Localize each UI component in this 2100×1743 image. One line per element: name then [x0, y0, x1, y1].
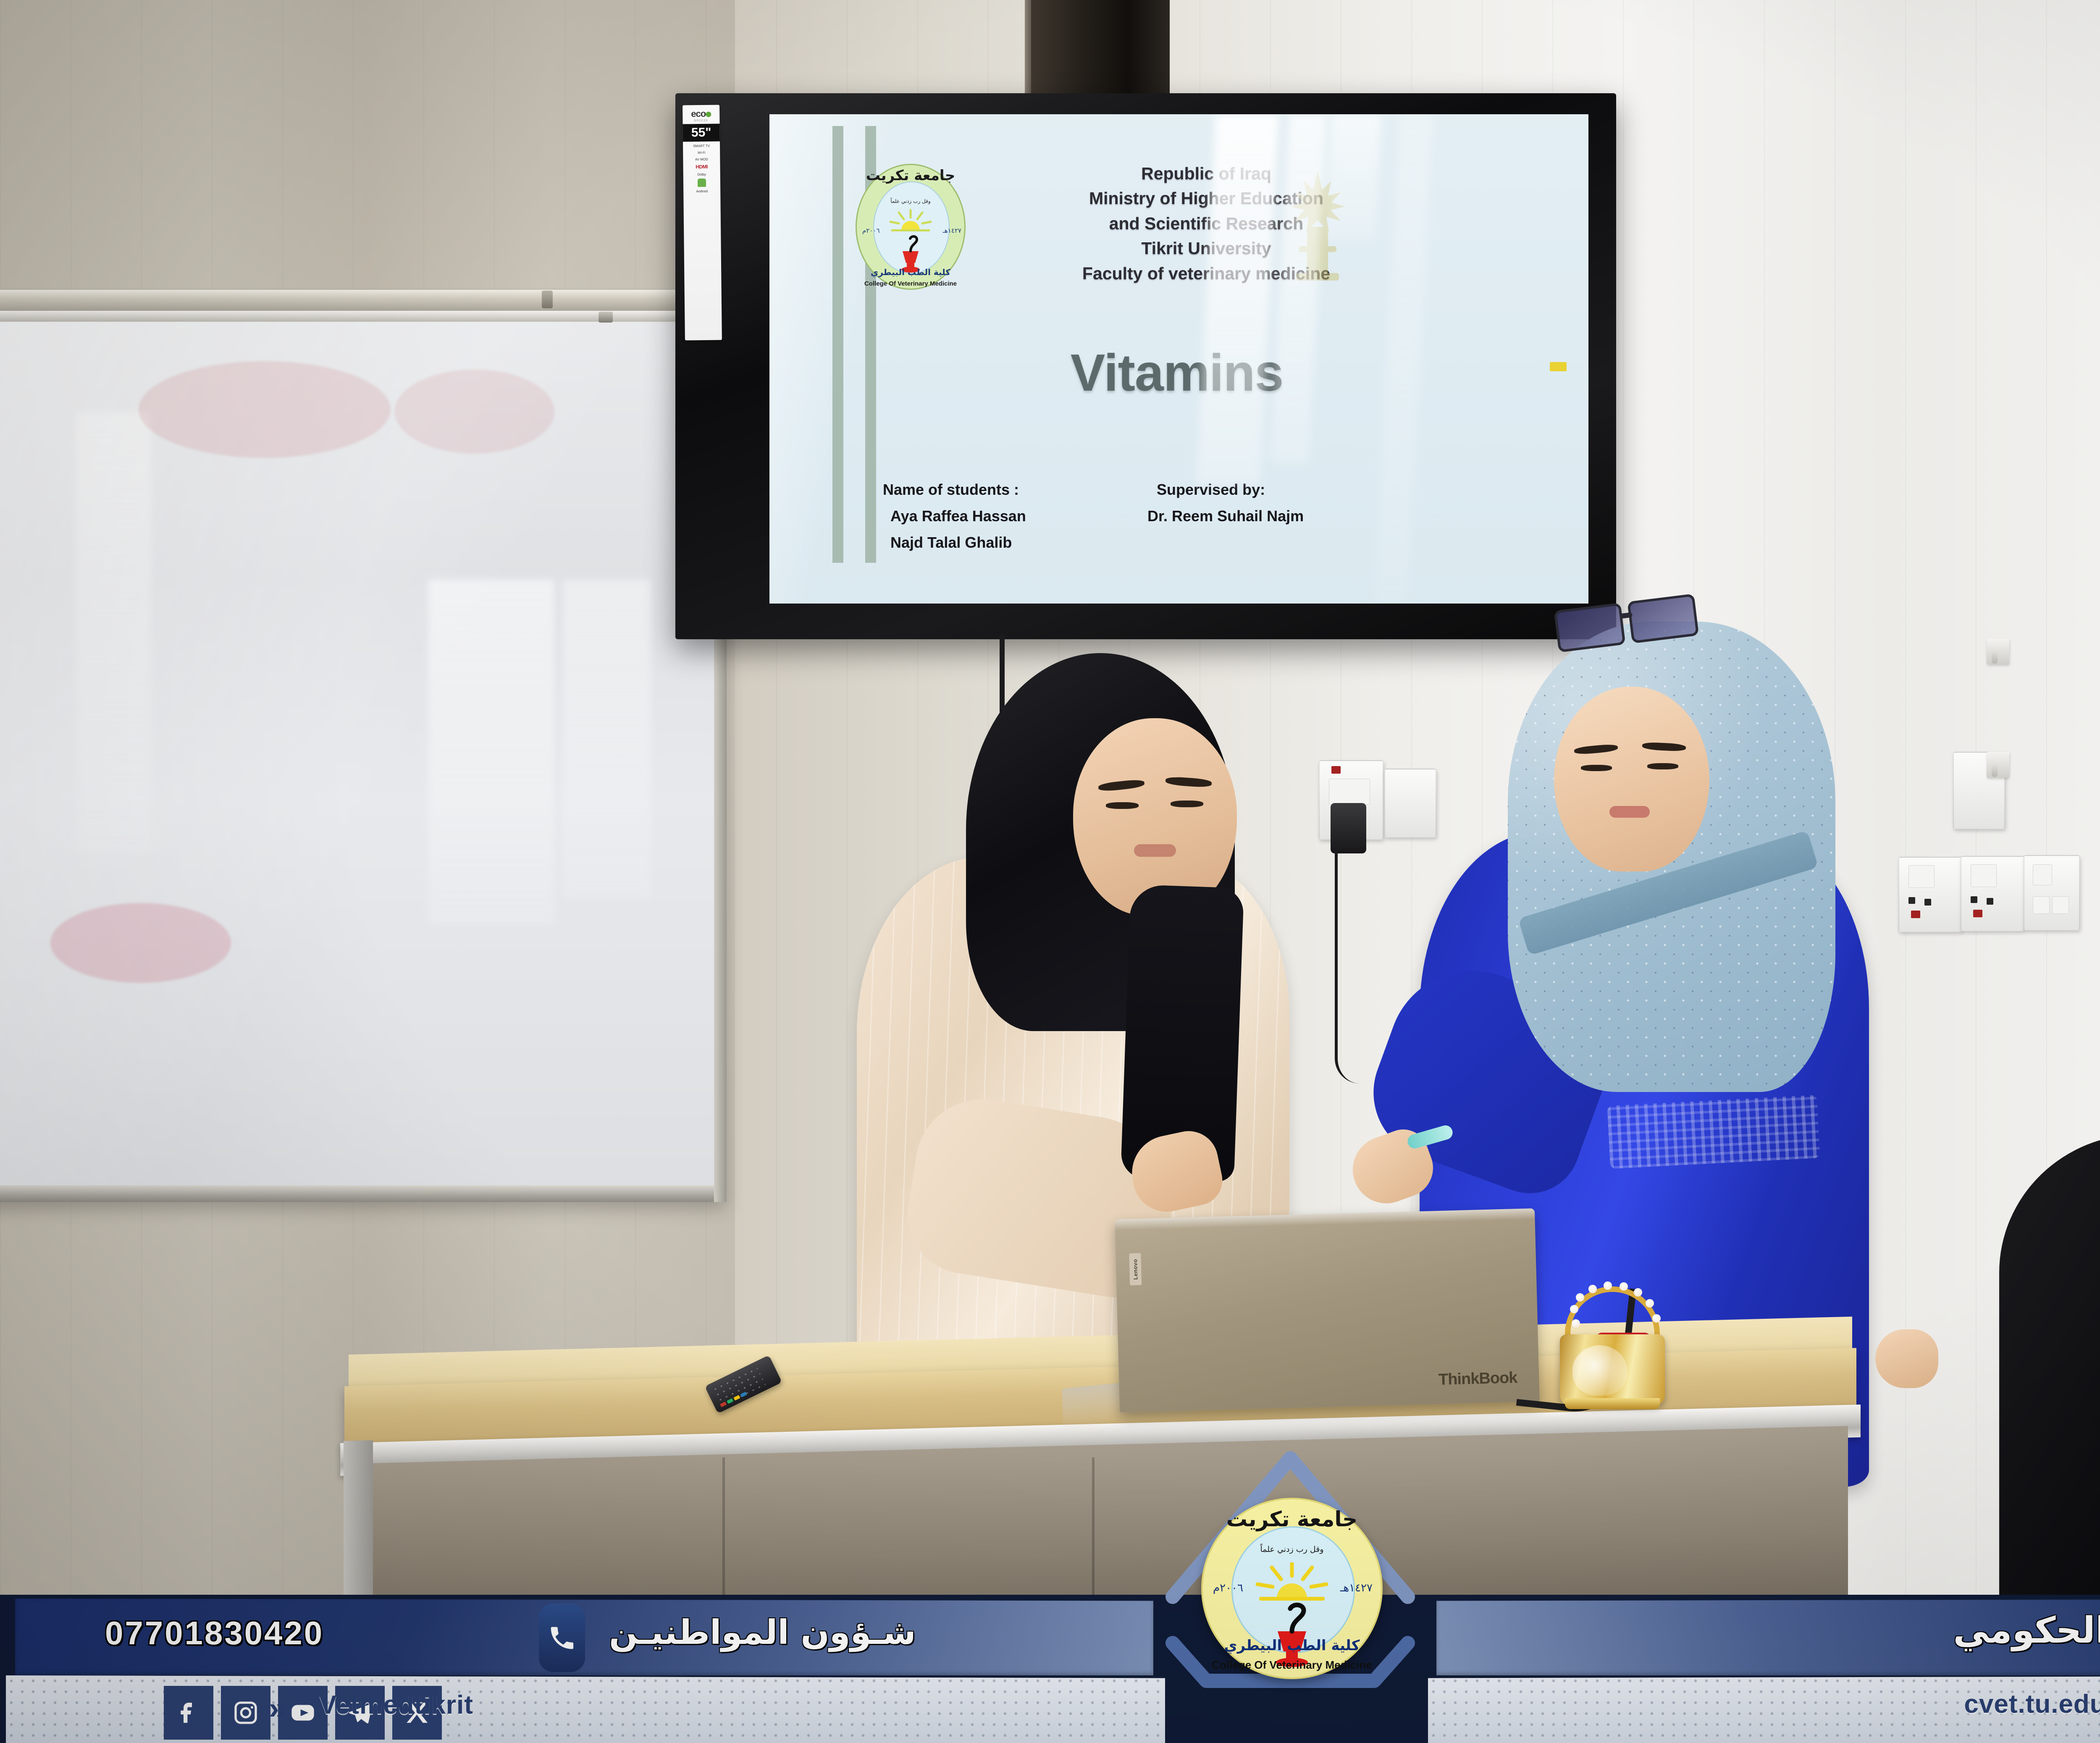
whiteboard-glare [428, 580, 554, 924]
university-logo: جامعة تكريت وقل رب زدني علماً [856, 164, 966, 290]
emblem-year-hijri: ١٤٢٧هـ [1340, 1582, 1373, 1594]
logo-year-hijri: ١٤٢٧هـ [942, 227, 961, 234]
screenshot-root: جامعة تكريت وقل رب زدني علماً [0, 0, 2100, 1743]
tv-brand-label: eco [691, 108, 711, 120]
banner-left-section-title: شـؤون المواطنيـن [609, 1613, 916, 1652]
social-handle[interactable]: Vetmedtikrit [319, 1690, 473, 1720]
whiteboard-frame-bottom [0, 1185, 727, 1202]
student-name: Najd Talal Ghalib [883, 529, 1118, 556]
tv-feature-hdmi: HDMI [696, 164, 708, 170]
android-icon [698, 178, 706, 187]
contact-phone-number[interactable]: 07701830420 [105, 1614, 324, 1652]
supervisor-label: Supervised by: [1147, 476, 1416, 503]
student-name: Aya Raffea Hassan [883, 503, 1118, 529]
whiteboard-glare [76, 412, 151, 853]
phone-icon [539, 1604, 585, 1672]
tv-size-label: 55" [683, 124, 720, 142]
slide-students-block: Name of students : Aya Raffea Hassan Naj… [883, 476, 1118, 556]
ceiling-rail [0, 290, 739, 309]
whiteboard-marker-residue [395, 370, 554, 454]
screen-window-reflection [1325, 114, 1382, 240]
supervisor-face [1554, 687, 1709, 871]
whiteboard-marker-residue [139, 361, 391, 458]
instagram-icon[interactable] [221, 1686, 270, 1740]
power-socket[interactable] [1961, 856, 2024, 931]
whiteboard-marker-residue [50, 903, 231, 983]
wall-plate [1384, 769, 1436, 837]
tv-feature-smarttv: SMART TV [693, 144, 710, 148]
emblem-motto: وقل رب زدني علماً [1203, 1545, 1381, 1554]
presentation-slide: جامعة تكريت وقل رب زدني علماً [769, 114, 1588, 604]
tv-yellow-label [1550, 362, 1567, 371]
sun-icon [1254, 1562, 1330, 1601]
tv-brand-sub: BREEZE [694, 119, 708, 122]
tv-screen: جامعة تكريت وقل رب زدني علماً [769, 114, 1588, 604]
students-label: Name of students : [883, 476, 1118, 503]
power-cable [1335, 848, 1392, 1084]
college-emblem: جامعة تكريت وقل رب زدني علماً [1156, 1446, 1425, 1743]
wall-hook [1987, 752, 2009, 778]
tv-feature-android: Android [696, 190, 708, 194]
whiteboard-glare [563, 580, 651, 899]
facebook-icon[interactable] [164, 1686, 213, 1740]
whiteboard-frame-top [0, 311, 727, 322]
sun-icon [888, 209, 933, 232]
chevron-right-icon: » [269, 1693, 286, 1724]
power-socket[interactable] [1898, 857, 1962, 932]
basket-foot [1565, 1398, 1660, 1409]
logo-english-bottom: College Of Veterinary Medicine [856, 280, 966, 287]
whiteboard-clip [598, 312, 613, 323]
logo-year-gregorian: ٢٠٠٦م [862, 227, 880, 234]
emblem-english-bottom: College Of Veterinary Medicine [1203, 1659, 1381, 1672]
tv-feature-wifi: Wi-Fi [698, 151, 706, 155]
supervisor-name: Dr. Reem Suhail Najm [1147, 503, 1416, 529]
decorative-gold-basket [1550, 1279, 1676, 1405]
official-website-url[interactable]: cvet.tu.edu.iq [1964, 1689, 2100, 1719]
logo-motto: وقل رب زدني علماً [856, 198, 966, 204]
basket-body [1560, 1334, 1665, 1406]
lenovo-logo: Lenovo [1129, 1253, 1142, 1286]
tv-feature-av: AV MOD [695, 157, 708, 161]
emblem-year-gregorian: ٢٠٠٦م [1213, 1582, 1243, 1594]
banner-right-section-title: شعبة الاعلام والاتصال الحكومي [1953, 1609, 2100, 1651]
supervisor-hand [1875, 1329, 1938, 1388]
emblem-arabic-bottom: كلية الطب البيطري [1203, 1637, 1381, 1654]
tv-brand-text: eco [691, 108, 706, 119]
slide-accent-bar [832, 126, 843, 563]
power-plug [1331, 803, 1366, 853]
tv-feature-dolby: Dolby [698, 173, 706, 176]
tv-feature-sticker: eco BREEZE 55" SMART TV Wi-Fi AV MOD HDM… [682, 105, 722, 341]
emblem-disc: جامعة تكريت وقل رب زدني علماً [1201, 1498, 1383, 1679]
phone-glyph [547, 1623, 577, 1653]
slide-supervisor-block: Supervised by: Dr. Reem Suhail Najm [1147, 476, 1416, 529]
laptop-lid: Lenovo ThinkBook [1115, 1208, 1540, 1412]
wall-hook [1987, 638, 2009, 664]
thinkbook-logo: ThinkBook [1438, 1369, 1517, 1389]
power-socket[interactable] [2024, 855, 2080, 930]
logo-arabic-bottom: كلية الطب البيطري [856, 267, 966, 277]
supervisor-dress-lace [1607, 1095, 1820, 1169]
whiteboard-bracket [542, 291, 553, 308]
